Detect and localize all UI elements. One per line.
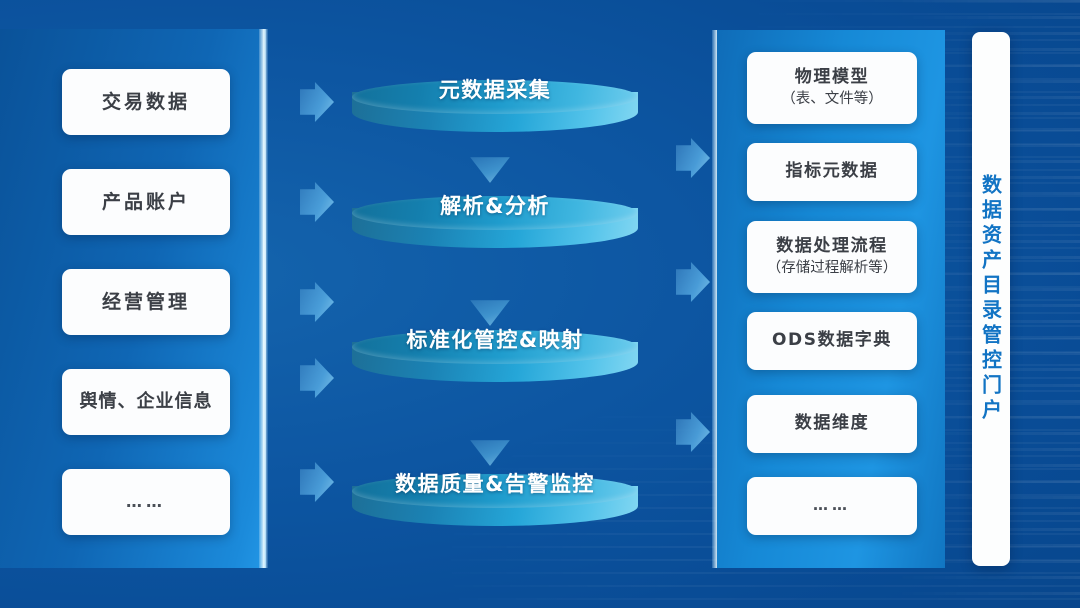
output-card-subtitle: （表、文件等）	[781, 90, 883, 109]
output-card-more[interactable]: ……	[747, 477, 917, 535]
output-card-ods-dictionary[interactable]: ODS数据字典	[747, 312, 917, 370]
output-card-title: 数据维度	[795, 413, 869, 435]
source-card-product-account[interactable]: 产品账户	[62, 169, 230, 235]
source-card-label: 经营管理	[102, 290, 190, 314]
output-card-title: 指标元数据	[786, 161, 879, 183]
source-card-public-opinion[interactable]: 舆情、企业信息	[62, 369, 230, 435]
pipeline-stage-label: 解析&分析	[352, 190, 638, 220]
output-card-physical-model[interactable]: 物理模型 （表、文件等）	[747, 52, 917, 124]
pipeline-stage-metadata-collection[interactable]: 元数据采集	[352, 80, 638, 144]
source-card-transaction[interactable]: 交易数据	[62, 69, 230, 135]
output-card-title: 物理模型	[795, 67, 869, 89]
source-card-operations[interactable]: 经营管理	[62, 269, 230, 335]
output-card-data-process-flow[interactable]: 数据处理流程 （存储过程解析等）	[747, 221, 917, 293]
portal-title-text: 数据资产目录管控门户	[977, 174, 1006, 424]
panel-divider-left	[259, 29, 268, 568]
pipeline-stage-label: 标准化管控&映射	[352, 324, 638, 354]
output-card-metric-metadata[interactable]: 指标元数据	[747, 143, 917, 201]
output-card-title: ……	[813, 496, 851, 515]
output-card-title: ODS数据字典	[772, 330, 892, 352]
pipeline-stage-quality-alert-monitoring[interactable]: 数据质量&告警监控	[352, 474, 638, 538]
source-card-more[interactable]: ……	[62, 469, 230, 535]
output-card-title: 数据处理流程	[776, 236, 888, 258]
output-card-data-dimension[interactable]: 数据维度	[747, 395, 917, 453]
pipeline-stage-standardization-mapping[interactable]: 标准化管控&映射	[352, 330, 638, 394]
pipeline-stage-label: 数据质量&告警监控	[352, 468, 638, 498]
diagram-canvas: 交易数据 产品账户 经营管理 舆情、企业信息 …… 元数据采集 解析&分析 标准…	[0, 0, 1080, 608]
pipeline-stage-parse-analyze[interactable]: 解析&分析	[352, 196, 638, 260]
pipeline-stage-label: 元数据采集	[352, 74, 638, 104]
source-card-label: 交易数据	[102, 90, 190, 114]
source-card-label: 舆情、企业信息	[80, 390, 213, 413]
source-card-label: 产品账户	[102, 190, 190, 214]
output-card-subtitle: （存储过程解析等）	[767, 259, 898, 278]
portal-title-bar: 数据资产目录管控门户	[972, 32, 1010, 566]
source-card-label: ……	[126, 492, 166, 512]
